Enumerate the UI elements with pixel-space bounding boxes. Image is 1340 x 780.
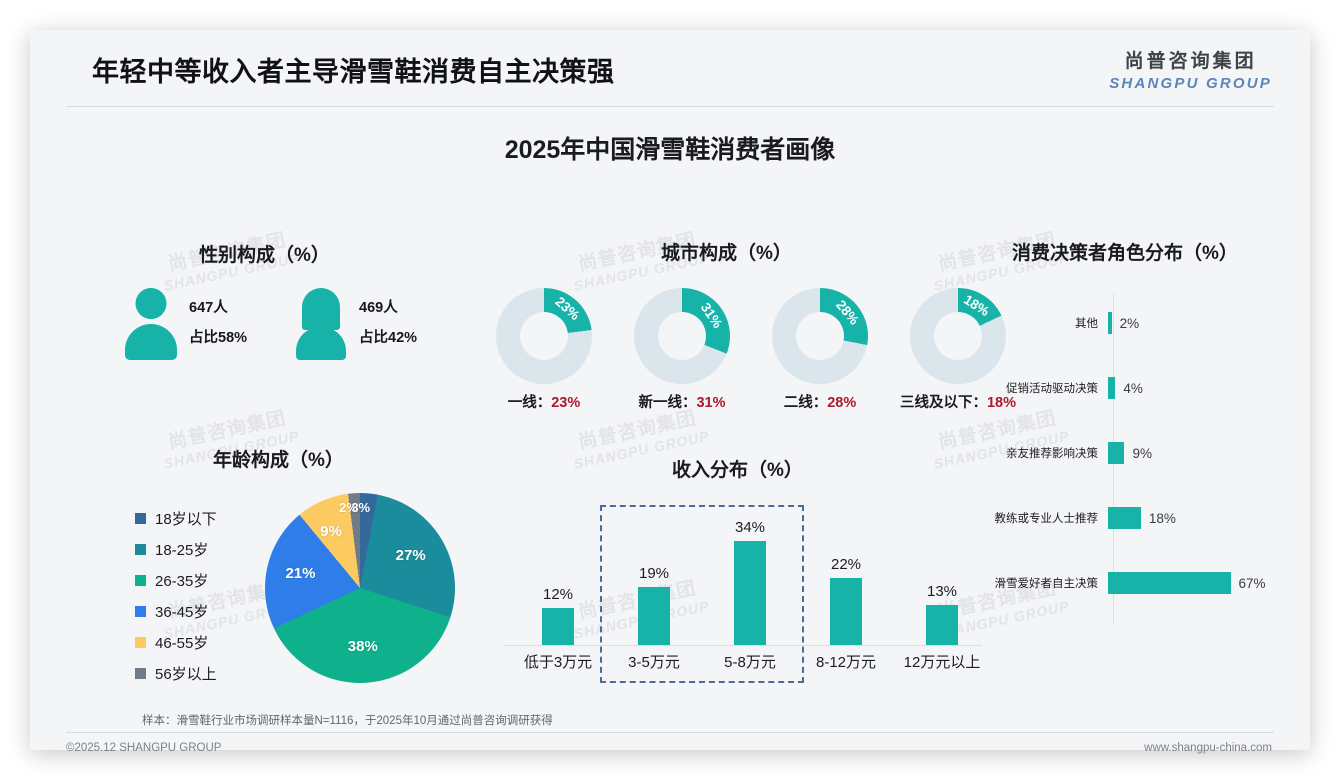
- legend-label: 26-35岁: [155, 570, 208, 591]
- sample-note: 样本：滑雪鞋行业市场调研样本量N=1116，于2025年10月通过尚普咨询调研获…: [142, 712, 553, 728]
- income-distribution-panel: 收入分布（%） 12%19%34%22%13% 低于3万元3-5万元5-8万元8…: [500, 455, 1000, 690]
- age-legend-item: 36-45岁: [135, 596, 217, 627]
- city-name: 新一线：: [638, 395, 696, 411]
- role-bar: [1108, 312, 1112, 334]
- age-composition-panel: 年龄构成（%） 18岁以下18-25岁26-35岁36-45岁46-55岁56岁…: [105, 445, 485, 690]
- city-name: 三线及以下：: [900, 395, 987, 411]
- logo-english-text: SHANGPU GROUP: [1109, 75, 1272, 92]
- city-panel-title: 城市构成（%）: [661, 238, 792, 265]
- donut-hole: [658, 312, 706, 360]
- city-value: 31%: [696, 395, 725, 411]
- brand-logo: 尚普咨询集团 SHANGPU GROUP: [1109, 46, 1272, 92]
- income-bar-column: 12%: [510, 586, 606, 645]
- income-bar-column: 22%: [798, 556, 894, 645]
- age-legend-item: 46-55岁: [135, 627, 217, 658]
- city-donut-item: 28%二线：28%: [761, 288, 879, 412]
- income-bar: [830, 578, 862, 645]
- city-composition-panel: 城市构成（%） 23%一线：23%31%新一线：31%28%二线：28%18%三…: [485, 238, 1015, 398]
- legend-swatch: [135, 544, 146, 555]
- legend-label: 18岁以下: [155, 508, 217, 529]
- age-legend-item: 18岁以下: [135, 503, 217, 534]
- infographic-title: 2025年中国滑雪鞋消费者画像: [30, 130, 1310, 166]
- income-bar-value: 22%: [798, 556, 894, 573]
- age-legend-item: 56岁以上: [135, 658, 217, 689]
- city-donut-gauge: 23%: [496, 288, 592, 384]
- role-bar-row: 教练或专业人士推荐18%: [990, 506, 1310, 530]
- legend-swatch: [135, 575, 146, 586]
- city-name: 一线：: [508, 395, 552, 411]
- city-donut-item: 23%一线：23%: [485, 288, 603, 412]
- gender-female-count: 469人: [359, 294, 417, 324]
- income-bar-value: 13%: [894, 583, 990, 600]
- role-bar-label: 亲友推荐影响决策: [990, 445, 1108, 461]
- role-bar-value: 4%: [1123, 381, 1143, 396]
- role-bar-row: 促销活动驱动决策4%: [990, 376, 1310, 400]
- legend-swatch: [135, 606, 146, 617]
- income-bar-category: 低于3万元: [510, 651, 606, 672]
- pie-slice-label: 27%: [396, 547, 426, 564]
- age-pie-chart: 3%27%38%21%9%2%: [265, 493, 455, 683]
- donut-hole: [934, 312, 982, 360]
- pie-slice-label: 9%: [320, 523, 342, 540]
- income-bar: [638, 587, 670, 645]
- gender-female-share: 占比42%: [359, 324, 417, 354]
- city-donut-label: 一线：23%: [485, 391, 603, 412]
- role-bar: [1108, 377, 1115, 399]
- income-bar-category: 5-8万元: [702, 651, 798, 672]
- gender-female-stats: 469人 占比42%: [359, 294, 417, 353]
- income-bar-column: 13%: [894, 583, 990, 645]
- income-bar-column: 19%: [606, 565, 702, 645]
- pie-slice-label: 21%: [285, 565, 315, 582]
- gender-panel-title: 性别构成（%）: [199, 240, 330, 267]
- role-bar-label: 滑雪爱好者自主决策: [990, 575, 1108, 591]
- income-bar-category: 8-12万元: [798, 651, 894, 672]
- income-panel-title: 收入分布（%）: [672, 455, 803, 482]
- legend-label: 18-25岁: [155, 539, 208, 560]
- income-bar-column: 34%: [702, 519, 798, 645]
- city-donut-row: 23%一线：23%31%新一线：31%28%二线：28%18%三线及以下：18%: [485, 288, 1017, 412]
- role-bar-label: 教练或专业人士推荐: [990, 510, 1108, 526]
- role-bar: [1108, 572, 1231, 594]
- age-legend-item: 26-35岁: [135, 565, 217, 596]
- website-url: www.shangpu-china.com: [1144, 742, 1272, 754]
- legend-swatch: [135, 668, 146, 679]
- role-bar-value: 9%: [1132, 446, 1152, 461]
- legend-label: 46-55岁: [155, 632, 208, 653]
- legend-label: 36-45岁: [155, 601, 208, 622]
- gender-composition-panel: 性别构成（%） 647人 占比58% 469人 占比42%: [105, 240, 475, 380]
- female-person-icon: [295, 288, 347, 360]
- income-bar-value: 34%: [702, 519, 798, 536]
- role-bar-label: 其他: [990, 315, 1108, 331]
- donut-hole: [796, 312, 844, 360]
- income-bar-category: 12万元以上: [894, 651, 990, 672]
- income-bar-value: 12%: [510, 586, 606, 603]
- role-bar-value: 2%: [1120, 316, 1140, 331]
- male-person-icon: [125, 288, 177, 360]
- income-bar-category: 3-5万元: [606, 651, 702, 672]
- gender-male-share: 占比58%: [189, 324, 247, 354]
- slide-canvas: 尚普咨询集团 SHANGPU GROUP 尚普咨询集团 SHANGPU GROU…: [30, 30, 1310, 750]
- decision-role-panel: 消费决策者角色分布（%） 其他2%促销活动驱动决策4%亲友推荐影响决策9%教练或…: [990, 238, 1310, 638]
- slide-header: 年轻中等收入者主导滑雪鞋消费自主决策强 尚普咨询集团 SHANGPU GROUP: [30, 30, 1310, 106]
- city-donut-gauge: 28%: [772, 288, 868, 384]
- city-donut-label: 二线：28%: [761, 391, 879, 412]
- income-bar-chart: 12%19%34%22%13%: [510, 515, 990, 645]
- role-panel-title: 消费决策者角色分布（%）: [1012, 238, 1238, 265]
- role-bar-value: 67%: [1239, 576, 1266, 591]
- income-bar: [542, 608, 574, 645]
- page-title: 年轻中等收入者主导滑雪鞋消费自主决策强: [92, 50, 615, 89]
- role-bar-value: 18%: [1149, 511, 1176, 526]
- city-donut-item: 31%新一线：31%: [623, 288, 741, 412]
- income-bar: [734, 541, 766, 645]
- pie-slice-label: 38%: [348, 638, 378, 655]
- role-bar-row: 滑雪爱好者自主决策67%: [990, 571, 1310, 595]
- age-legend-item: 18-25岁: [135, 534, 217, 565]
- income-bar: [926, 605, 958, 645]
- role-bar-row: 亲友推荐影响决策9%: [990, 441, 1310, 465]
- header-divider: [66, 106, 1274, 107]
- role-bar: [1108, 507, 1141, 529]
- role-bar: [1108, 442, 1124, 464]
- city-donut-label: 新一线：31%: [623, 391, 741, 412]
- legend-swatch: [135, 637, 146, 648]
- role-bar-row: 其他2%: [990, 311, 1310, 335]
- gender-male-count: 647人: [189, 294, 247, 324]
- legend-swatch: [135, 513, 146, 524]
- copyright-text: ©2025.12 SHANGPU GROUP: [66, 742, 221, 754]
- income-axis-line: [504, 645, 982, 646]
- donut-hole: [520, 312, 568, 360]
- pie-slice-label: 2%: [339, 500, 358, 515]
- income-bar-value: 19%: [606, 565, 702, 582]
- city-value: 23%: [551, 395, 580, 411]
- footer-divider: [66, 732, 1274, 733]
- city-value: 28%: [827, 395, 856, 411]
- role-bar-chart: 其他2%促销活动驱动决策4%亲友推荐影响决策9%教练或专业人士推荐18%滑雪爱好…: [990, 293, 1310, 633]
- city-name: 二线：: [784, 395, 828, 411]
- gender-item-female: 469人 占比42%: [295, 288, 417, 360]
- city-donut-gauge: 31%: [634, 288, 730, 384]
- age-legend: 18岁以下18-25岁26-35岁36-45岁46-55岁56岁以上: [135, 503, 217, 689]
- role-bar-label: 促销活动驱动决策: [990, 380, 1108, 396]
- gender-male-stats: 647人 占比58%: [189, 294, 247, 353]
- gender-item-male: 647人 占比58%: [125, 288, 247, 360]
- logo-chinese-text: 尚普咨询集团: [1109, 46, 1272, 73]
- age-panel-title: 年龄构成（%）: [213, 445, 344, 472]
- legend-label: 56岁以上: [155, 663, 217, 684]
